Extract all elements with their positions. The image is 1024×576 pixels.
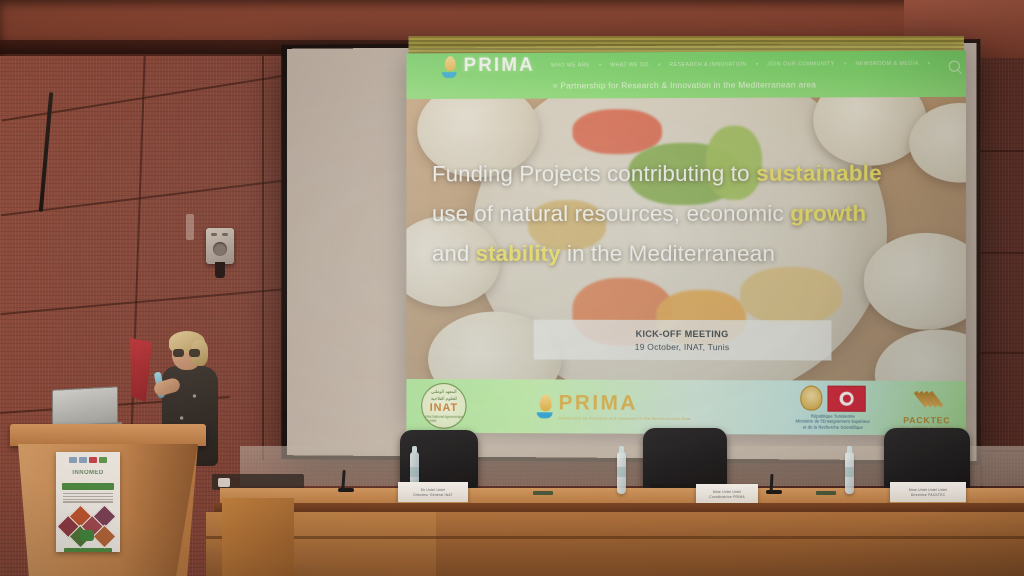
nav-item-what-we-do[interactable]: WHAT WE DO [610,62,649,68]
panel-chair [643,428,727,492]
navbar-tagline-row: = Partnership for Research & Innovation … [406,75,966,95]
podium-top-surface [10,424,206,446]
headline-line-1-text: Funding Projects contributing to [432,161,756,187]
microphone-base [766,490,782,494]
search-icon[interactable] [949,61,960,72]
tunisian-flag-icon [827,385,865,411]
poster-logo [79,457,87,463]
side-table [222,498,294,576]
prima-droplet-icon [537,394,554,418]
microphone-cable-coil [650,484,696,488]
tunisia-state-emblem-icon [800,386,822,411]
nav-item-research-innovation[interactable]: RESEARCH & INNOVATION [669,62,746,68]
poster-logo [69,457,77,463]
nameplate: Mr Untel Untel Directeur Général INAT [398,482,468,505]
speaker-slot [211,233,217,236]
headline-line-2-text: use of natural resources, economic [432,201,790,226]
poster-green-band [62,483,114,490]
prima-logo: PRIMA Partnership for Research and Innov… [537,392,691,421]
inat-acronym: INAT [430,403,458,414]
wall-speaker-icon [206,228,234,264]
prima-logo-sub: Partnership for Research and Innovation … [559,416,691,421]
poster-image-grid [56,506,120,546]
speaker-mount-bracket [215,262,225,278]
poster-logo [89,457,97,463]
chevron-down-icon: ▾ [844,61,847,67]
presenter-glasses-icon [173,349,200,357]
podium-poster: INNOMED [56,452,120,552]
tunisia-emblem-row [800,385,865,411]
headline-line-3-prefix: and [432,241,476,266]
screenshot-root: PRIMA WHO WE ARE ▾ WHAT WE DO ▾ RESEARCH… [0,0,1024,576]
prima-logo-word: PRIMA [559,392,691,414]
poster-body-text [63,493,113,503]
slide-headline: Funding Projects contributing to sustain… [432,153,952,274]
nav-item-newsroom-media[interactable]: NEWSROOM & MEDIA [855,61,918,67]
inat-french-name: Institut National Agronomique de Tunisie [422,415,465,423]
chevron-down-icon: ▾ [658,62,661,68]
nav-item-who-we-are[interactable]: WHO WE ARE [551,62,590,68]
speaker-slot [222,233,228,236]
chevron-down-icon: ▾ [756,62,759,68]
nameplate-line-1: Mme Untel Untel Untel [909,488,947,492]
packtec-word: PACKTEC [903,415,950,425]
desk-object [218,478,230,487]
nameplate-line-2: Directeur Général INAT [413,493,453,497]
water-bottle [845,452,854,494]
chevron-down-icon: ▾ [928,61,931,67]
chevron-down-icon: ▾ [599,62,602,68]
inat-logo: المعهد الوطني للعلوم الفلاحية INAT Insti… [416,383,471,429]
nameplate-line-2: Coordinatrice PRIMA [709,495,745,499]
poster-center-badge [80,530,94,541]
headline-line-3: and stability in the Mediterranean [432,234,952,274]
microphone-base [338,488,354,492]
headline-line-1: Funding Projects contributing to sustain… [432,153,952,194]
table-pad [533,491,553,495]
kickoff-meeting-box: KICK-OFF MEETING 19 October, INAT, Tunis [534,320,832,361]
packtec-mark-icon [914,387,940,413]
water-bottle [617,452,626,494]
poster-logo [99,457,107,463]
navbar-links: WHO WE ARE ▾ WHAT WE DO ▾ RESEARCH & INN… [551,61,930,69]
inat-badge: المعهد الوطني للعلوم الفلاحية INAT Insti… [421,383,466,429]
headline-highlight-growth: growth [790,201,866,226]
headline-highlight-stability: stability [476,241,561,266]
table-pad [816,491,836,495]
nameplate-line-1: Mr Untel Untel [421,488,445,492]
headline-line-3-suffix: in the Mediterranean [561,241,775,266]
tunisia-ministry-logo: République Tunisienne Ministère de l'Ens… [796,385,870,430]
poster-logo-row [56,452,120,465]
projected-slide: PRIMA WHO WE ARE ▾ WHAT WE DO ▾ RESEARCH… [406,50,966,435]
ministry-text-block: République Tunisienne Ministère de l'Ens… [796,413,870,430]
prima-brand-text: PRIMA [464,55,535,77]
kickoff-heading: KICK-OFF MEETING [636,328,729,338]
wall-trim-strip [186,214,194,240]
nav-item-join-our-community[interactable]: JOIN OUR COMMUNITY [767,61,835,67]
nameplate-line-1: Mme Untel Untel [713,490,741,494]
ministry-line-3: et de la Recherche Scientifique [803,424,863,430]
prima-droplet-icon [442,56,458,76]
nameplate: Mme Untel Untel Untel Directrice PACKTEC [890,482,966,505]
prima-logo-text: PRIMA Partnership for Research and Innov… [559,392,691,421]
slide-site-navbar: PRIMA WHO WE ARE ▾ WHAT WE DO ▾ RESEARCH… [406,50,966,99]
speaker-cone [213,242,227,256]
headline-highlight-sustainable: sustainable [756,161,882,186]
poster-title: INNOMED [56,465,120,481]
kickoff-details: 19 October, INAT, Tunis [635,341,730,351]
poster-title-text: INNOMED [72,470,103,476]
site-tagline: = Partnership for Research & Innovation … [553,79,816,90]
navbar-top-row: PRIMA WHO WE ARE ▾ WHAT WE DO ▾ RESEARCH… [406,53,966,78]
headline-line-2: use of natural resources, economic growt… [432,194,952,234]
packtec-logo: PACKTEC Centre Technique de l'Emballage [900,387,954,430]
inat-arabic-line-1: المعهد الوطني [431,389,457,395]
panel-table-groove [206,536,1024,539]
nameplate-line-2: Directrice PACKTEC [911,493,946,497]
